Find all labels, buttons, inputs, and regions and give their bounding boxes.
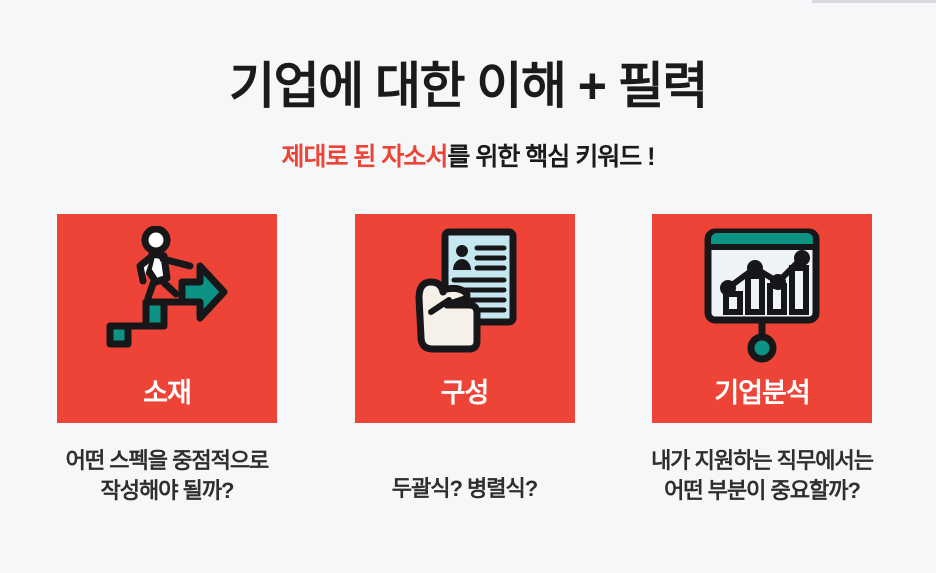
caption-list: 어떤 스펙을 중점적으로 작성해야 될까? 두괄식? 병렬식? 내가 지원하는 … bbox=[57, 446, 872, 507]
keyword-card-label: 구성 bbox=[355, 380, 575, 407]
caption-gieopbunseok: 내가 지원하는 직무에서는 어떤 부분이 중요할까? bbox=[617, 446, 907, 507]
caption-line: 두괄식? 병렬식? bbox=[320, 474, 610, 504]
keyword-card-list: 소재 bbox=[57, 214, 872, 423]
subtitle-plain-text: 를 위한 핵심 키워드 ! bbox=[447, 143, 654, 171]
poster-canvas: 기업에 대한 이해 + 필력 제대로 된 자소서를 위한 핵심 키워드 ! bbox=[0, 0, 936, 573]
hand-holding-resume-document-icon bbox=[400, 226, 530, 366]
keyword-card-guseong[interactable]: 구성 bbox=[355, 214, 575, 423]
caption-guseong: 두괄식? 병렬식? bbox=[320, 446, 610, 507]
caption-line: 작성해야 될까? bbox=[22, 476, 312, 506]
caption-line: 어떤 부분이 중요할까? bbox=[617, 476, 907, 506]
page-subtitle: 제대로 된 자소서를 위한 핵심 키워드 ! bbox=[0, 142, 936, 172]
keyword-card-label: 기업분석 bbox=[652, 380, 872, 407]
presentation-board-bar-chart-icon bbox=[697, 226, 827, 366]
subtitle-accent-text: 제대로 된 자소서 bbox=[281, 143, 447, 171]
person-climbing-stairs-arrow-icon bbox=[102, 226, 232, 366]
page-title: 기업에 대한 이해 + 필력 bbox=[0, 58, 936, 114]
keyword-card-sojae[interactable]: 소재 bbox=[57, 214, 277, 423]
caption-line: 내가 지원하는 직무에서는 bbox=[617, 446, 907, 476]
scrollbar-remnant bbox=[812, 0, 936, 3]
caption-line: 어떤 스펙을 중점적으로 bbox=[22, 446, 312, 476]
keyword-card-gieopbunseok[interactable]: 기업분석 bbox=[652, 214, 872, 423]
caption-sojae: 어떤 스펙을 중점적으로 작성해야 될까? bbox=[22, 446, 312, 507]
keyword-card-label: 소재 bbox=[57, 380, 277, 407]
